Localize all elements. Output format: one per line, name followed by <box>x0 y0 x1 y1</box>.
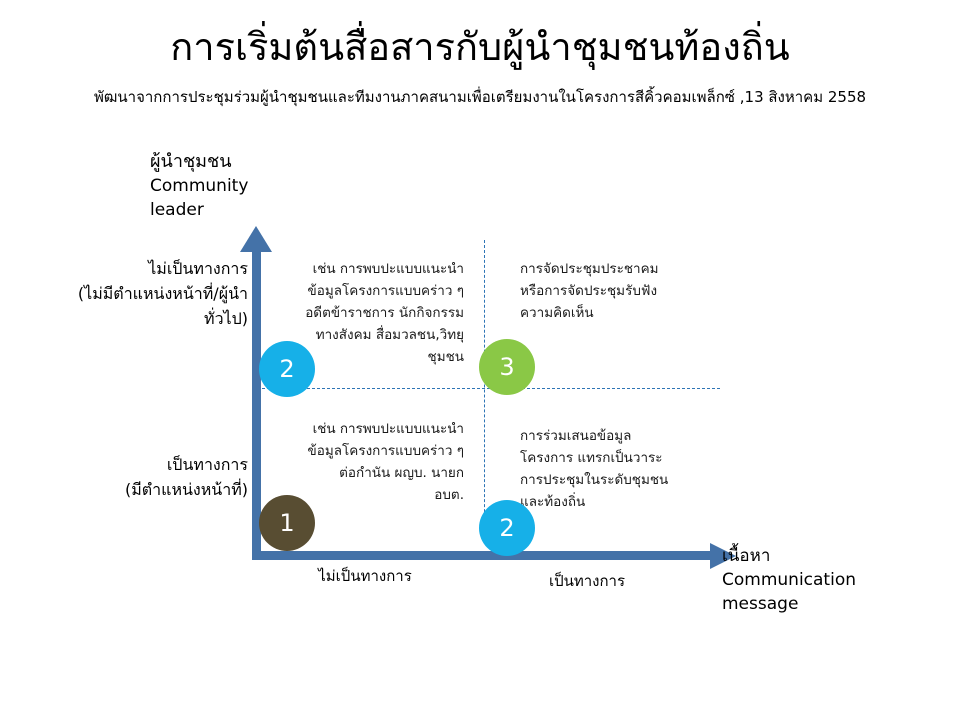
x-axis-title-en-line1: Communication <box>722 568 902 592</box>
quadrant-bottom-right-line-1: การร่วมเสนอข้อมูล <box>520 425 700 447</box>
quadrant-top-left-line-1: เช่น การพบปะแบบแนะนำ <box>288 258 464 280</box>
quadrant-top-left-line-2: ข้อมูลโครงการแบบคร่าว ๆ <box>288 280 464 302</box>
y-axis-category-informal-line2: (ไม่มีตำแหน่งหน้าที่/ผู้นำ <box>20 281 248 306</box>
x-axis-category-informal: ไม่เป็นทางการ <box>265 565 465 587</box>
quadrant-bottom-right-line-4: และท้องถิ่น <box>520 491 700 513</box>
y-axis-title: ผู้นำชุมชน Community leader <box>150 150 330 222</box>
quadrant-bottom-right-text: การร่วมเสนอข้อมูล โครงการ แทรกเป็นวาระ ก… <box>520 425 700 513</box>
quadrant-top-left-text: เช่น การพบปะแบบแนะนำ ข้อมูลโครงการแบบคร่… <box>288 258 464 368</box>
badge-top-left: 2 <box>259 341 315 397</box>
y-axis-category-informal: ไม่เป็นทางการ (ไม่มีตำแหน่งหน้าที่/ผู้นำ… <box>20 256 248 331</box>
x-axis-category-formal: เป็นทางการ <box>487 570 687 592</box>
page-title: การเริ่มต้นสื่อสารกับผู้นำชุมชนท้องถิ่น <box>0 24 960 70</box>
y-axis-category-informal-line1: ไม่เป็นทางการ <box>20 256 248 281</box>
quadrant-bottom-right-line-3: การประชุมในระดับชุมชน <box>520 469 700 491</box>
x-axis-title-th: เนื้อหา <box>722 544 902 568</box>
quadrant-bottom-left-line-4: อบต. <box>288 484 464 506</box>
quadrant-bottom-left-text: เช่น การพบปะแบบแนะนำ ข้อมูลโครงการแบบคร่… <box>288 418 464 506</box>
y-axis-category-formal-line2: (มีตำแหน่งหน้าที่) <box>20 477 248 502</box>
quadrant-top-left-line-3: อดีตข้าราชการ นักกิจกรรม <box>288 302 464 324</box>
quadrant-top-right-line-2: หรือการจัดประชุมรับฟัง <box>520 280 700 302</box>
quadrant-divider-vertical <box>484 240 485 532</box>
vertical-axis-line <box>252 248 261 555</box>
quadrant-bottom-left-line-2: ข้อมูลโครงการแบบคร่าว ๆ <box>288 440 464 462</box>
y-axis-title-en-line2: leader <box>150 198 330 222</box>
quadrant-top-left-line-4: ทางสังคม สื่อมวลชน,วิทยุ <box>288 324 464 346</box>
y-axis-category-informal-line3: ทั่วไป) <box>20 306 248 331</box>
slide-canvas: การเริ่มต้นสื่อสารกับผู้นำชุมชนท้องถิ่น … <box>0 0 960 720</box>
x-axis-title: เนื้อหา Communication message <box>722 544 902 616</box>
quadrant-bottom-left-line-1: เช่น การพบปะแบบแนะนำ <box>288 418 464 440</box>
quadrant-top-right-line-1: การจัดประชุมประชาคม <box>520 258 700 280</box>
horizontal-axis-line <box>252 551 714 560</box>
badge-bottom-left: 1 <box>259 495 315 551</box>
quadrant-bottom-right-line-2: โครงการ แทรกเป็นวาระ <box>520 447 700 469</box>
y-axis-title-en-line1: Community <box>150 174 330 198</box>
badge-bottom-right: 2 <box>479 500 535 556</box>
quadrant-top-right-line-3: ความคิดเห็น <box>520 302 700 324</box>
quadrant-top-right-text: การจัดประชุมประชาคม หรือการจัดประชุมรับฟ… <box>520 258 700 324</box>
y-axis-category-formal-line1: เป็นทางการ <box>20 452 248 477</box>
page-subtitle: พัฒนาจากการประชุมร่วมผู้นำชุมชนและทีมงาน… <box>0 86 960 108</box>
badge-top-right: 3 <box>479 339 535 395</box>
y-axis-category-formal: เป็นทางการ (มีตำแหน่งหน้าที่) <box>20 452 248 502</box>
vertical-axis-arrow-icon <box>240 226 272 252</box>
y-axis-title-th: ผู้นำชุมชน <box>150 150 330 174</box>
quadrant-bottom-left-line-3: ต่อกำนัน ผญบ. นายก <box>288 462 464 484</box>
x-axis-title-en-line2: message <box>722 592 902 616</box>
